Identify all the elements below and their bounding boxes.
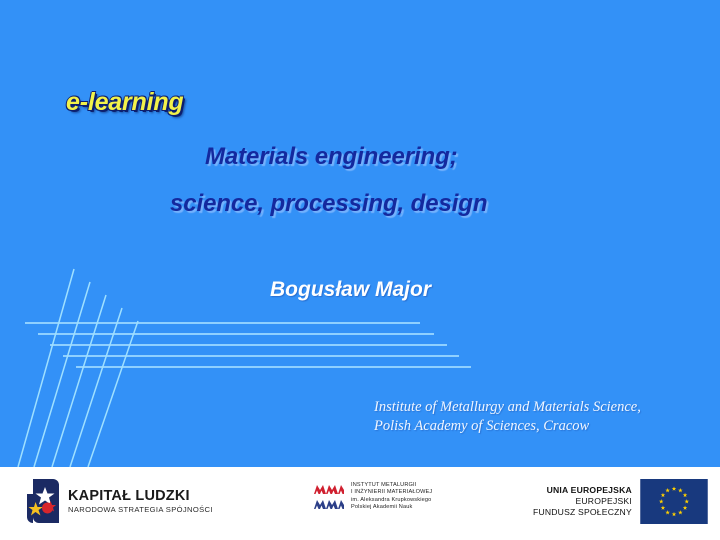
decor-diagonal-line-5 xyxy=(88,321,138,467)
eu-line-1: UNIA EUROPEJSKA xyxy=(533,485,632,496)
logo-kapital-ludzki: KAPITAŁ LUDZKI NARODOWA STRATEGIA SPÓJNO… xyxy=(27,479,213,523)
author-name: Bogusław Major xyxy=(270,278,431,302)
imim-line-3: im. Aleksandra Krupkowskiego xyxy=(351,497,432,504)
slide-title-line-1: Materials engineering; xyxy=(205,143,458,171)
kl-subtitle: NARODOWA STRATEGIA SPÓJNOŚCI xyxy=(68,504,213,515)
affiliation-line-2: Polish Academy of Sciences, Cracow xyxy=(374,417,641,436)
decor-diagonal-line-1 xyxy=(18,269,74,467)
slide-kicker: e-learning xyxy=(66,88,183,117)
decor-horizontal-lines xyxy=(25,323,471,367)
decorative-line-art xyxy=(0,0,720,540)
footer-logo-band: KAPITAŁ LUDZKI NARODOWA STRATEGIA SPÓJNO… xyxy=(0,467,720,540)
affiliation: Institute of Metallurgy and Materials Sc… xyxy=(374,398,641,436)
presentation-slide: e-learning Materials engineering; scienc… xyxy=(0,0,720,540)
decor-diagonal-lines xyxy=(18,269,138,467)
affiliation-line-1: Institute of Metallurgy and Materials Sc… xyxy=(374,398,641,417)
kl-title: KAPITAŁ LUDZKI xyxy=(68,488,213,504)
eu-line-2: EUROPEJSKI xyxy=(533,496,632,507)
slide-title-line-2: science, processing, design xyxy=(170,190,487,218)
decor-diagonal-line-3 xyxy=(52,295,106,467)
decor-diagonal-line-4 xyxy=(70,308,122,467)
eu-line-3: FUNDUSZ SPOŁECZNY xyxy=(533,507,632,518)
kl-stars-icon xyxy=(27,479,59,523)
imim-chevrons-icon xyxy=(314,483,344,511)
logo-unia-europejska: UNIA EUROPEJSKA EUROPEJSKI FUNDUSZ SPOŁE… xyxy=(533,479,708,524)
imim-text-block: INSTYTUT METALURGII I INŻYNIERII MATERIA… xyxy=(351,482,432,512)
logo-imim-pan: INSTYTUT METALURGII I INŻYNIERII MATERIA… xyxy=(314,482,432,512)
eu-flag-icon xyxy=(640,479,708,524)
kl-text-block: KAPITAŁ LUDZKI NARODOWA STRATEGIA SPÓJNO… xyxy=(68,488,213,515)
eu-text-block: UNIA EUROPEJSKA EUROPEJSKI FUNDUSZ SPOŁE… xyxy=(533,485,632,518)
decor-diagonal-line-2 xyxy=(34,282,90,467)
imim-line-2: I INŻYNIERII MATERIAŁOWEJ xyxy=(351,489,432,496)
imim-line-4: Polskiej Akademii Nauk xyxy=(351,504,432,511)
